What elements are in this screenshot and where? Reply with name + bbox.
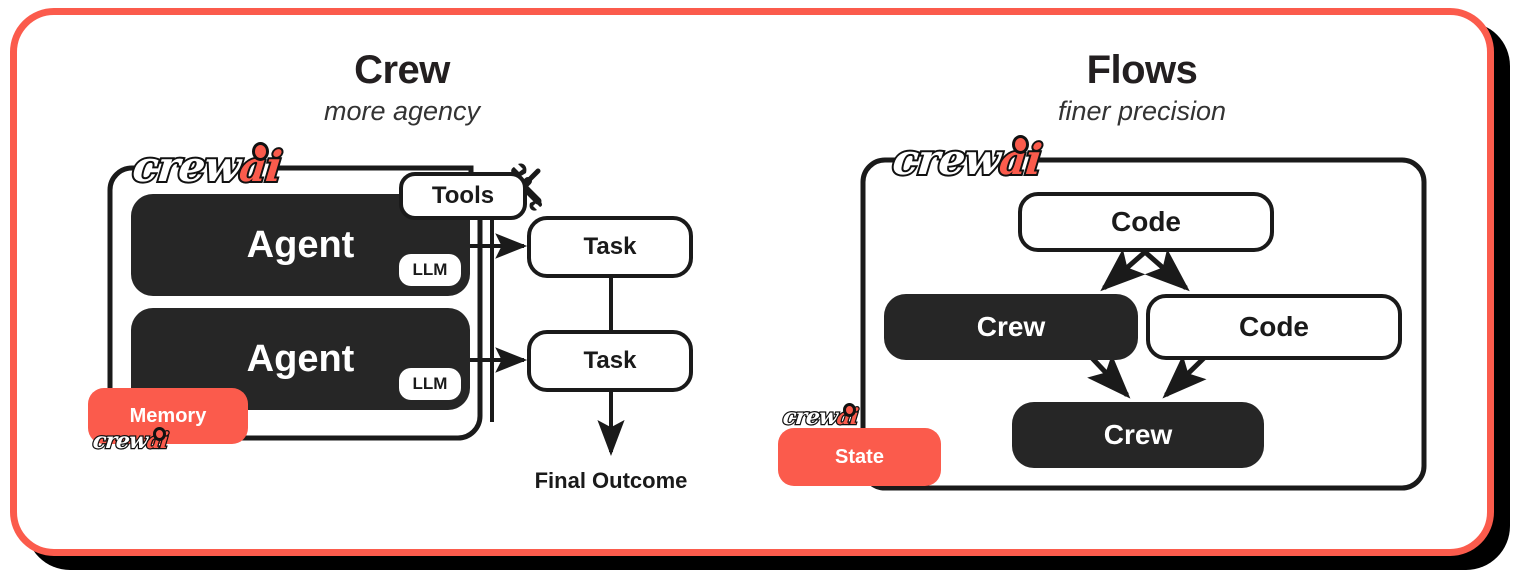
node-agent-1-label: Agent [247, 224, 355, 267]
node-crew-bottom-label: Crew [1104, 419, 1172, 451]
node-task-2-label: Task [584, 347, 637, 375]
node-code-right[interactable]: Code [1146, 294, 1402, 360]
node-agent-2-label: Agent [247, 338, 355, 381]
panel-subtitle-crew: more agency [262, 96, 542, 127]
crewai-logo-word: crew [130, 142, 242, 191]
node-code-right-label: Code [1239, 311, 1309, 343]
final-outcome-label: Final Outcome [511, 468, 711, 494]
node-state-label: State [835, 446, 884, 469]
crewai-logo-flows-dot [1012, 135, 1029, 154]
crewai-logo-memory-word: crew [92, 428, 149, 454]
node-crew-left-label: Crew [977, 311, 1045, 343]
node-memory-label: Memory [130, 405, 207, 428]
panel-subtitle-flows: finer precision [1002, 96, 1282, 127]
node-llm-2-label: LLM [413, 374, 448, 394]
node-state[interactable]: State [778, 428, 941, 486]
node-llm-1[interactable]: LLM [399, 254, 461, 286]
panel-title-flows: Flows [1002, 48, 1282, 93]
crewai-logo-flows-word: crew [890, 135, 1002, 184]
node-tools-label: Tools [432, 182, 494, 210]
panel-title-crew: Crew [262, 48, 542, 93]
node-tools[interactable]: Tools [399, 172, 527, 220]
crewai-logo-dot [252, 142, 269, 161]
node-crew-bottom[interactable]: Crew [1012, 402, 1264, 468]
node-task-1[interactable]: Task [527, 216, 693, 278]
crewai-logo-memory-dot [153, 427, 166, 441]
node-llm-1-label: LLM [413, 260, 448, 280]
crewai-logo-state-word: crew [782, 404, 839, 430]
node-llm-2[interactable]: LLM [399, 368, 461, 400]
node-code-top-label: Code [1111, 206, 1181, 238]
node-crew-left[interactable]: Crew [884, 294, 1138, 360]
node-task-2[interactable]: Task [527, 330, 693, 392]
diagram-canvas: Crew more agency Flows finer precision [0, 0, 1526, 586]
node-task-1-label: Task [584, 233, 637, 261]
crewai-logo-state-dot [843, 403, 856, 417]
node-code-top[interactable]: Code [1018, 192, 1274, 252]
